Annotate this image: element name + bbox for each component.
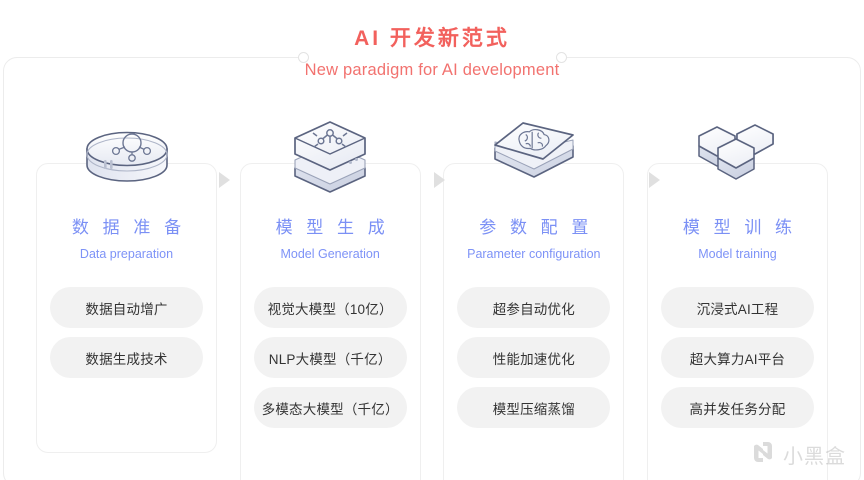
pipeline-step-model-generation[interactable]: 模 型 生 成 Model Generation 视觉大模型（10亿） NLP大… — [240, 110, 421, 480]
list-item[interactable]: 多模态大模型（千亿） — [254, 387, 407, 428]
step-item-list: 视觉大模型（10亿） NLP大模型（千亿） 多模态大模型（千亿） — [254, 287, 407, 428]
list-item[interactable]: 性能加速优化 — [457, 337, 610, 378]
hei-he-logo-icon — [750, 439, 776, 470]
list-item[interactable]: 沉浸式AI工程 — [661, 287, 814, 328]
step-item-list: 超参自动优化 性能加速优化 模型压缩蒸馏 — [457, 287, 610, 428]
step-heading-cn: 模 型 生 成 — [271, 216, 389, 240]
step-heading-en: Parameter configuration — [467, 246, 600, 263]
page-title-en: New paradigm for AI development — [0, 59, 864, 81]
page-header: AI 开发新范式 New paradigm for AI development — [0, 26, 864, 81]
pipeline-columns: 数 据 准 备 Data preparation 数据自动增广 数据生成技术 — [0, 110, 864, 480]
step-item-list: 沉浸式AI工程 超大算力AI平台 高并发任务分配 — [661, 287, 814, 428]
watermark: 小黑盒 — [750, 439, 846, 470]
model-cube-icon — [278, 112, 382, 198]
list-item[interactable]: 视觉大模型（10亿） — [254, 287, 407, 328]
step-heading: 参 数 配 置 Parameter configuration — [467, 216, 600, 263]
list-item[interactable]: 数据自动增广 — [50, 287, 203, 328]
list-item[interactable]: 数据生成技术 — [50, 337, 203, 378]
step-heading: 模 型 训 练 Model training — [678, 216, 796, 263]
brain-slab-icon — [482, 112, 586, 198]
pipeline-step-parameter-configuration[interactable]: 参 数 配 置 Parameter configuration 超参自动优化 性… — [443, 110, 624, 480]
list-item[interactable]: 模型压缩蒸馏 — [457, 387, 610, 428]
step-heading-en: Model training — [678, 246, 796, 263]
arrow-step-3-to-4-icon — [649, 172, 660, 188]
arrow-step-2-to-3-icon — [434, 172, 445, 188]
list-item[interactable]: 高并发任务分配 — [661, 387, 814, 428]
pipeline-step-model-training[interactable]: 模 型 训 练 Model training 沉浸式AI工程 超大算力AI平台 … — [647, 110, 828, 480]
step-heading-cn: 数 据 准 备 — [67, 216, 185, 240]
step-heading: 数 据 准 备 Data preparation — [67, 216, 185, 263]
step-heading-cn: 参 数 配 置 — [467, 216, 600, 240]
step-heading-cn: 模 型 训 练 — [678, 216, 796, 240]
step-heading-en: Model Generation — [271, 246, 389, 263]
list-item[interactable]: NLP大模型（千亿） — [254, 337, 407, 378]
hexagon-cluster-icon — [685, 112, 789, 198]
list-item[interactable]: 超大算力AI平台 — [661, 337, 814, 378]
pipeline-step-data-preparation[interactable]: 数 据 准 备 Data preparation 数据自动增广 数据生成技术 — [36, 110, 217, 480]
step-heading: 模 型 生 成 Model Generation — [271, 216, 389, 263]
list-item[interactable]: 超参自动优化 — [457, 287, 610, 328]
page-title-cn: AI 开发新范式 — [0, 26, 864, 52]
step-heading-en: Data preparation — [67, 246, 185, 263]
step-item-list: 数据自动增广 数据生成技术 — [50, 287, 203, 378]
database-disk-icon — [75, 112, 179, 198]
watermark-text: 小黑盒 — [783, 440, 846, 469]
arrow-step-1-to-2-icon — [219, 172, 230, 188]
